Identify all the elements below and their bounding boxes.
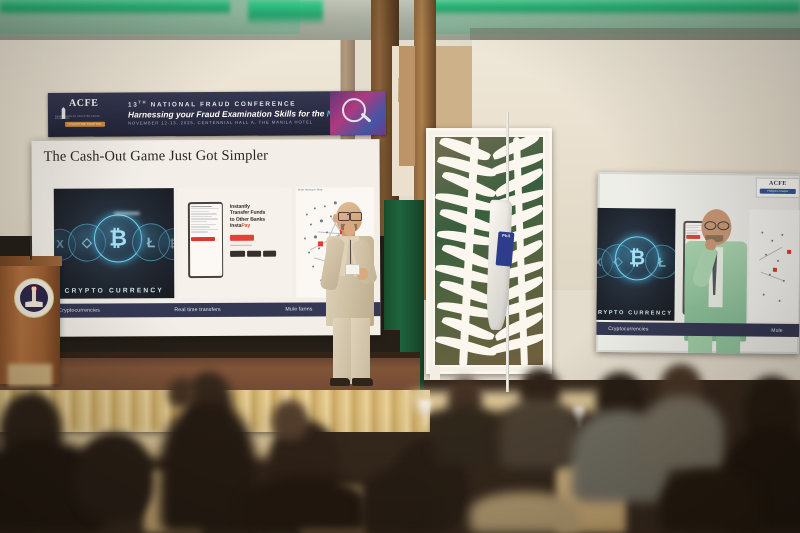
seal-book-icon (25, 301, 42, 307)
audience-body-10 (640, 396, 724, 470)
instapay-cta-button[interactable] (230, 235, 254, 241)
store-badge-1[interactable] (230, 251, 245, 257)
speaker-hand-raised (344, 222, 355, 236)
speaker-leg-right (351, 318, 370, 384)
audience-head-12 (272, 400, 308, 440)
speaker-glasses-right (350, 212, 362, 221)
right-led-screen: X ◇ ₿ Ł CRYPTO CURRENCY ACFE Philippine … (596, 172, 800, 354)
caption-mule-farms: Mule farms (285, 306, 312, 312)
flag-band: Phil (496, 231, 515, 266)
conference-photo-scene: ACFE ASSOCIATION OF CERTIFIED FRAUD EXAM… (0, 0, 800, 533)
audience-head-6 (168, 378, 196, 408)
banner-line-3: NOVEMBER 12-13, 2025, CENTENNIAL HALL A,… (128, 119, 313, 125)
doorway-gap (399, 46, 415, 166)
instapay-panel: Instantly Transfer Funds to Other Banks … (178, 188, 293, 299)
right-network-panel (748, 210, 799, 323)
right-caption-3: Mule (771, 327, 782, 333)
flagged-node-1 (318, 241, 323, 246)
caption-real-time-transfers: Real time transfers (174, 307, 220, 313)
instapay-subline (230, 245, 252, 246)
right-flagged-node-2 (773, 268, 777, 272)
instapay-headline: Instantly Transfer Funds to Other Banks … (230, 204, 266, 230)
slide-title: The Cash-Out Game Just Got Simpler (44, 148, 269, 166)
acfe-wordmark: ACFE (69, 99, 115, 109)
wine-glass-1 (419, 400, 431, 416)
right-acfe-logo: ACFE Philippine Chapter (756, 178, 800, 198)
speaker-shoe-right (352, 378, 373, 386)
audience-body-12 (362, 470, 432, 533)
lectern-microphone (30, 236, 32, 260)
institution-seal (14, 278, 54, 318)
magnifying-glass-icon (330, 91, 386, 135)
right-crypto-label: CRYPTO CURRENCY (596, 310, 674, 317)
store-badge-3[interactable] (263, 251, 276, 257)
green-cove-light-center (248, 0, 323, 26)
network-header: Mule Network Map (298, 188, 323, 191)
crypto-currency-panel: X ◇ ₿ Ł ₿ CRYPTO CURRENCY (54, 188, 175, 299)
audience-body-7 (434, 404, 496, 464)
audience-body-13 (660, 470, 760, 533)
phone-screen (189, 204, 221, 276)
audience-body-3 (242, 476, 368, 533)
right-flagged-node-1 (787, 250, 791, 254)
audience-body-14 (470, 492, 580, 533)
crypto-label: CRYPTO CURRENCY (54, 287, 174, 295)
acfe-chapter-chip: PHILIPPINE CHAPTER (65, 122, 106, 127)
speaker-badge (345, 264, 360, 275)
right-acfe-chip: Philippine Chapter (760, 189, 796, 194)
speaker-shoe-left (330, 378, 350, 386)
green-cove-light-right (420, 0, 800, 16)
panel-leg-left (430, 366, 440, 380)
right-crypto-panel: X ◇ ₿ Ł CRYPTO CURRENCY (596, 208, 676, 321)
conference-banner: ACFE ASSOCIATION OF CERTIFIED FRAUD EXAM… (48, 91, 386, 137)
lectern-base-shadow (8, 364, 52, 386)
seal-inner (20, 284, 48, 312)
speaker-leg-left (333, 318, 351, 384)
speaker-lanyard (350, 240, 351, 266)
speaker-glasses-bridge (347, 214, 351, 215)
banner-line-1: 13TH NATIONAL FRAUD CONFERENCE (128, 99, 296, 109)
right-caption-bar: Cryptocurrencies Mule (596, 322, 799, 337)
smartphone-icon (188, 202, 223, 278)
right-caption-1: Cryptocurrencies (608, 326, 648, 332)
audience-head-4 (74, 432, 154, 522)
audience-body-8 (500, 398, 578, 468)
caption-cryptocurrencies: Cryptocurrencies (58, 308, 100, 314)
acfe-logo: ACFE ASSOCIATION OF CERTIFIED FRAUD EXAM… (55, 99, 115, 127)
right-acfe-word: ACFE (757, 181, 799, 187)
crypto-flare (114, 212, 140, 214)
right-coin-ltc-icon: Ł (645, 244, 676, 278)
green-cove-light-left (0, 0, 230, 16)
store-badge-2[interactable] (247, 251, 261, 257)
